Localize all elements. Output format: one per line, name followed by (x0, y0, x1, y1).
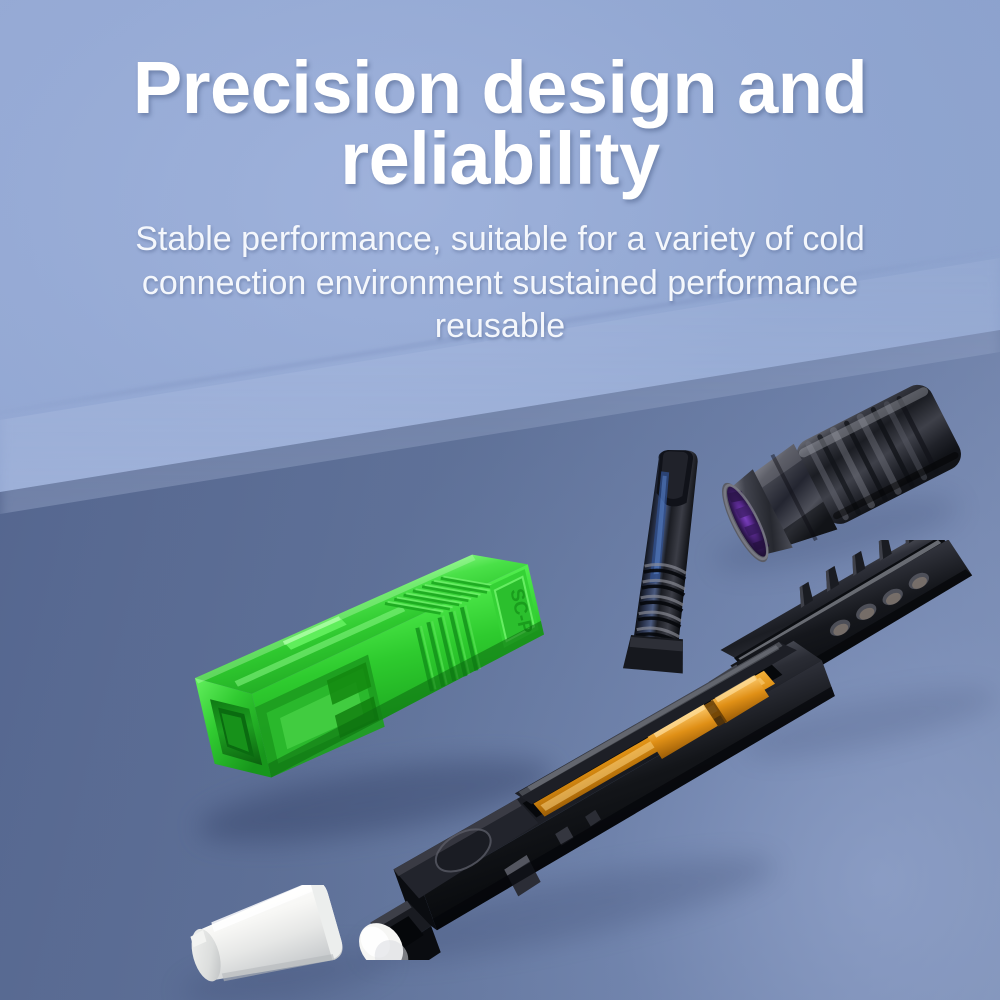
black-knurled-metal-cap (700, 378, 980, 568)
green-sc-adapter-housing: SC-P (178, 545, 578, 815)
product-hero-image: Precision design and reliability Stable … (0, 0, 1000, 1000)
white-dust-cap (175, 885, 365, 1000)
page-subtitle: Stable performance, suitable for a varie… (90, 218, 910, 349)
copy-block: Precision design and reliability Stable … (0, 52, 1000, 349)
page-title: Precision design and reliability (70, 52, 930, 194)
